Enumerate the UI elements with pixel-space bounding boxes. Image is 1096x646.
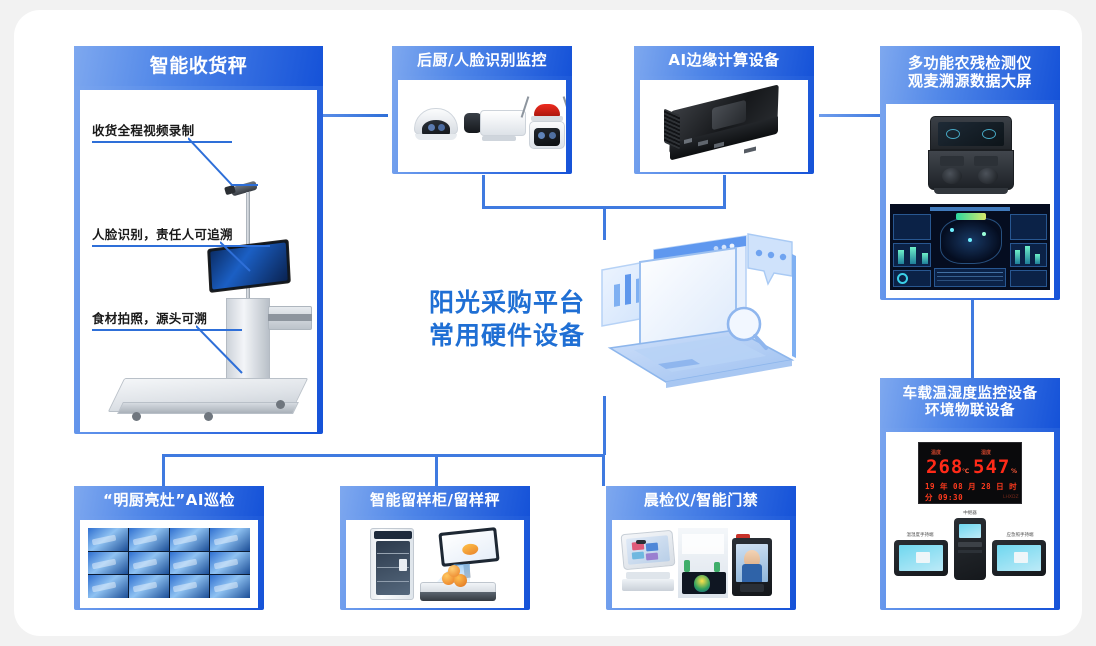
led-humidity-value: 547 <box>973 456 1010 478</box>
led-brand: LHXDZ <box>1003 495 1019 500</box>
led-humidity-label: 湿度 <box>981 449 991 456</box>
box-bright-kitchen-body <box>80 520 258 608</box>
box-ai-edge-title: AI边缘计算设备 <box>634 46 814 76</box>
cctv-video-wall-photo <box>88 528 250 598</box>
connector-bottom-leg-mid <box>435 454 438 486</box>
security-cameras-photo <box>398 80 566 172</box>
box-vehicle-temp-humidity-title: 车载温湿度监控设备 环境物联设备 <box>880 378 1060 428</box>
infographic-page: 智能收货秤 <box>0 0 1096 646</box>
center-title: 阳光采购平台 常用硬件设备 <box>412 286 602 352</box>
box-sample-cabinet-body <box>346 520 524 608</box>
callout-leader-line-1 <box>188 137 258 199</box>
traceability-dashboard-photo <box>890 204 1050 290</box>
box-pesticide-detector[interactable]: 多功能农残检测仪 观麦溯源数据大屏 <box>880 46 1060 300</box>
laptop-illustration-svg <box>596 226 811 396</box>
box-ai-edge-body <box>640 80 808 172</box>
device-caption-emergency-handheld: 应急照手持端 <box>992 532 1048 538</box>
connector-scale-to-kitchen <box>320 114 388 117</box>
connector-bottom-leg-right <box>602 454 605 486</box>
box-smart-scale-body: 收货全程视频录制 人脸识别，责任人可追溯 食材拍照，源头可溯 <box>80 90 317 432</box>
box-vehicle-temp-humidity-body: 温度 湿度 268 ℃ 547 % 19 年 08 月 28 日 时分 09:3… <box>886 432 1054 608</box>
device-caption-temp-handheld: 温湿度手持端 <box>894 532 946 538</box>
box-smart-scale-title: 智能收货秤 <box>74 46 323 86</box>
box-pesticide-detector-title-line1: 多功能农残检测仪 <box>908 55 1032 73</box>
box-smart-scale[interactable]: 智能收货秤 <box>74 46 323 434</box>
box-pesticide-detector-title-line2: 观麦溯源数据大屏 <box>908 73 1032 91</box>
box-morning-check-body <box>612 520 790 608</box>
center-title-line1: 阳光采购平台 <box>412 286 602 319</box>
box-ai-edge[interactable]: AI边缘计算设备 <box>634 46 814 174</box>
box-pesticide-detector-body <box>886 104 1054 298</box>
box-kitchen-face-monitor-title: 后厨/人脸识别监控 <box>392 46 572 76</box>
box-kitchen-face-monitor[interactable]: 后厨/人脸识别监控 <box>392 46 572 174</box>
center-title-line2: 常用硬件设备 <box>412 319 602 352</box>
pesticide-detector-photo <box>886 108 1054 204</box>
sample-scale-screen <box>438 527 499 567</box>
box-kitchen-face-monitor-body <box>398 80 566 172</box>
callout-leader-line-2 <box>220 241 264 277</box>
box-vehicle-temp-humidity[interactable]: 车载温湿度监控设备 环境物联设备 温度 湿度 268 ℃ 547 % 19 年 … <box>880 378 1060 610</box>
connector-detector-to-vehicle <box>971 300 974 378</box>
connector-center-down <box>603 396 606 455</box>
box-sample-cabinet[interactable]: 智能留样柜/留样秤 <box>340 486 530 610</box>
box-morning-check-title: 晨检仪/智能门禁 <box>606 486 796 516</box>
repeater-device <box>954 518 986 580</box>
sample-cabinet-photo <box>346 520 524 608</box>
box-bright-kitchen[interactable]: “明厨亮灶”AI巡检 <box>74 486 264 610</box>
connector-bottom-leg-left <box>162 454 165 486</box>
edge-computing-box-photo <box>640 80 808 172</box>
led-temp-label: 温度 <box>931 449 941 456</box>
box-sample-cabinet-title: 智能留样柜/留样秤 <box>340 486 530 516</box>
content-card: 智能收货秤 <box>14 10 1082 636</box>
box-vehicle-title-line2: 环境物联设备 <box>925 403 1015 420</box>
callout-leader-line-3 <box>196 325 256 377</box>
connector-bottom-bar <box>162 454 604 457</box>
box-morning-check[interactable]: 晨检仪/智能门禁 <box>606 486 796 610</box>
device-caption-repeater: 中继器 <box>948 510 992 516</box>
laptop-illustration <box>596 226 811 396</box>
connector-edge-to-detector <box>819 114 885 117</box>
temp-humidity-handheld <box>894 540 948 576</box>
box-bright-kitchen-title: “明厨亮灶”AI巡检 <box>74 486 264 516</box>
connector-edge-down <box>723 175 726 208</box>
led-display-board: 温度 湿度 268 ℃ 547 % 19 年 08 月 28 日 时分 09:3… <box>918 442 1022 504</box>
led-humidity-unit: % <box>1011 468 1017 475</box>
box-pesticide-detector-title: 多功能农残检测仪 观麦溯源数据大屏 <box>880 46 1060 100</box>
led-temp-unit: ℃ <box>962 468 969 475</box>
box-vehicle-title-line1: 车载温湿度监控设备 <box>903 386 1038 403</box>
morning-check-photo <box>612 520 790 608</box>
led-temp-value: 268 <box>926 456 963 478</box>
emergency-handheld <box>992 540 1046 576</box>
connector-kitchen-down <box>482 175 485 208</box>
